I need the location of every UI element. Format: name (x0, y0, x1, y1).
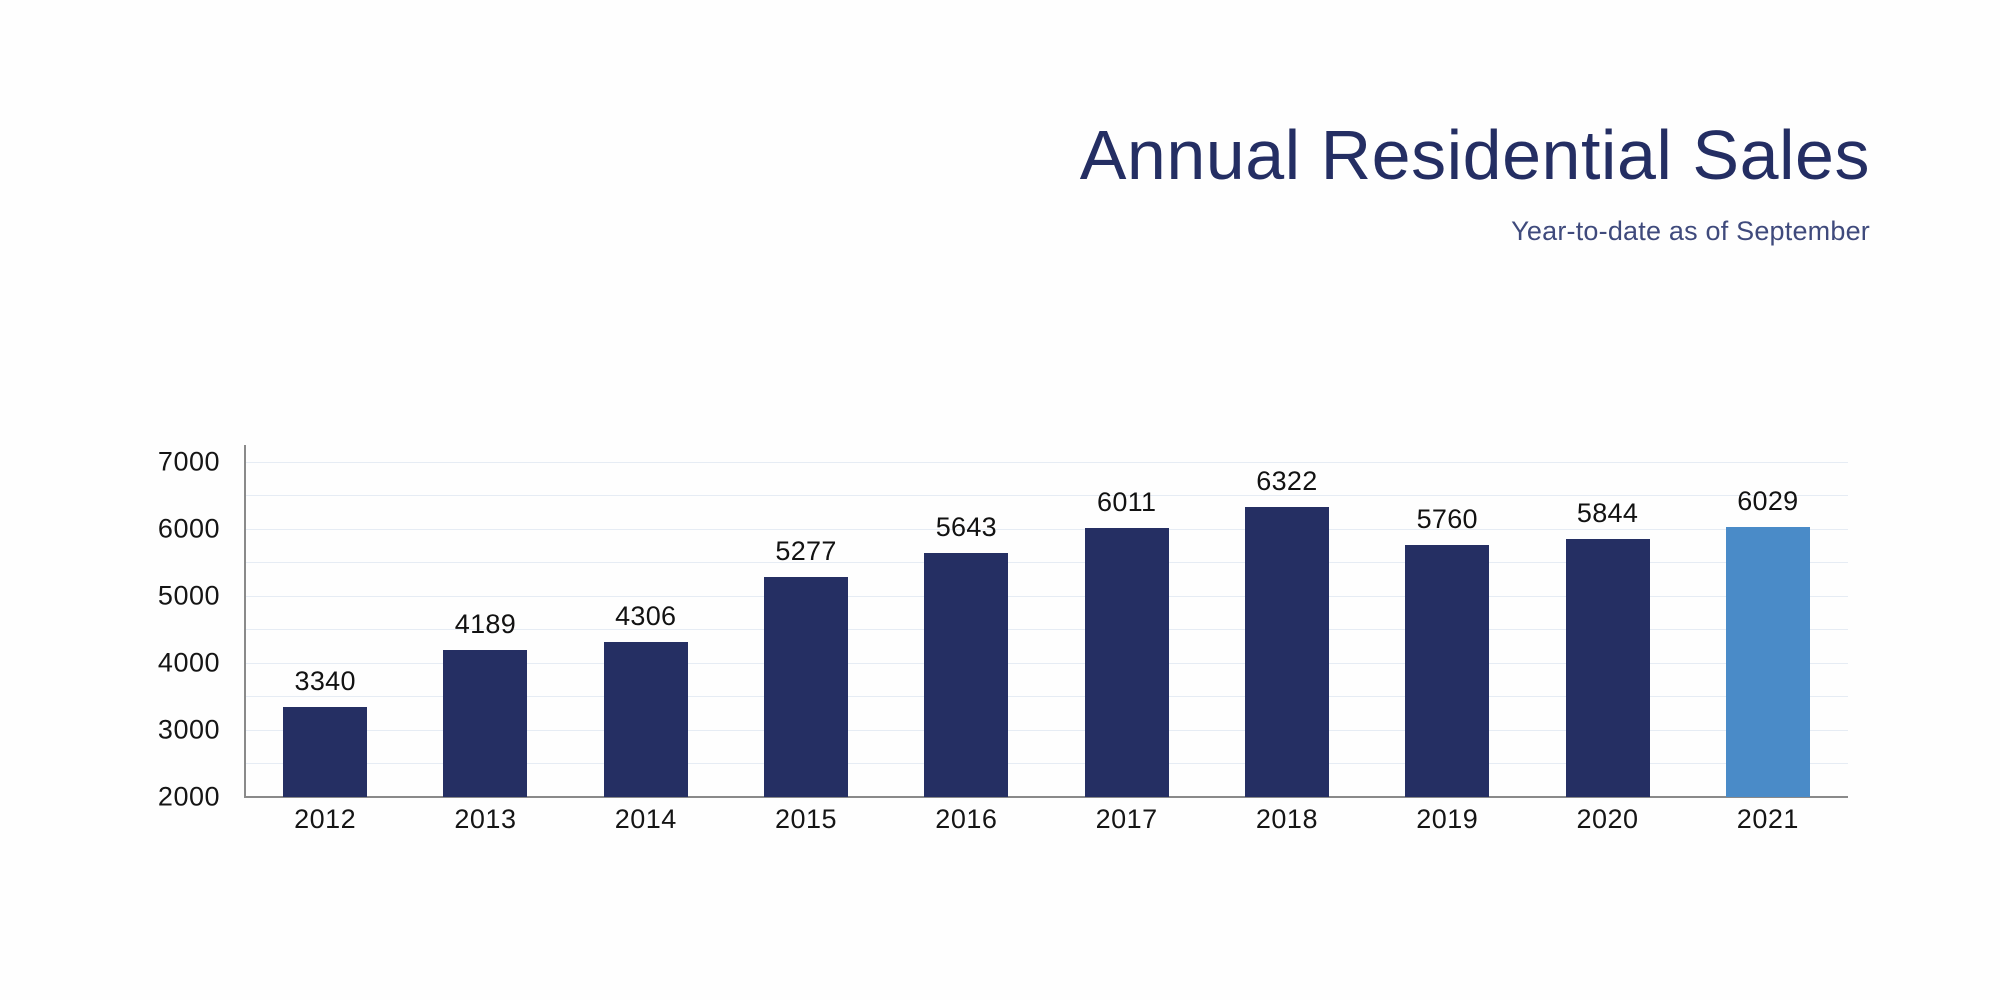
bar-slot: 3340 (245, 445, 405, 797)
bar-2021[interactable] (1726, 527, 1810, 797)
bar-2012[interactable] (283, 707, 367, 797)
bar-chart: 200030004000500060007000 334041894306527… (0, 0, 2000, 1000)
x-axis-tick-label: 2019 (1416, 804, 1478, 835)
bar-slot: 4306 (566, 445, 726, 797)
bar-value-label: 4306 (615, 601, 676, 632)
y-axis-tick-label: 6000 (60, 513, 220, 544)
bar-value-label: 5643 (936, 512, 997, 543)
bar-2016[interactable] (924, 553, 1008, 797)
bar-slot: 6322 (1207, 445, 1367, 797)
y-axis-tick-label: 4000 (60, 647, 220, 678)
bar-2015[interactable] (764, 577, 848, 797)
bar-slot: 5760 (1367, 445, 1527, 797)
bar-slot: 6011 (1047, 445, 1207, 797)
bar-value-label: 5844 (1577, 498, 1638, 529)
bar-value-label: 5760 (1417, 504, 1478, 535)
bar-2020[interactable] (1566, 539, 1650, 797)
y-axis-tick-label: 5000 (60, 580, 220, 611)
bar-2018[interactable] (1245, 507, 1329, 797)
y-axis-tick-label: 3000 (60, 714, 220, 745)
x-axis-tick-label: 2012 (294, 804, 356, 835)
bar-value-label: 5277 (775, 536, 836, 567)
x-axis-tick-label: 2015 (775, 804, 837, 835)
bar-slot: 5844 (1527, 445, 1687, 797)
bar-value-label: 6029 (1737, 486, 1798, 517)
bar-2017[interactable] (1085, 528, 1169, 797)
x-axis-tick-label: 2014 (615, 804, 677, 835)
y-axis-tick-label: 2000 (60, 782, 220, 813)
bar-slot: 5643 (886, 445, 1046, 797)
bar-value-label: 4189 (455, 609, 516, 640)
x-axis-tick-label: 2020 (1577, 804, 1639, 835)
x-axis-tick-label: 2018 (1256, 804, 1318, 835)
bar-slot: 6029 (1688, 445, 1848, 797)
y-axis-tick-label: 7000 (60, 446, 220, 477)
bar-value-label: 3340 (295, 666, 356, 697)
x-axis-tick-label: 2013 (454, 804, 516, 835)
slide-canvas: Annual Residential Sales Year-to-date as… (0, 0, 2000, 1000)
bar-2014[interactable] (604, 642, 688, 797)
bar-value-label: 6011 (1097, 487, 1156, 518)
x-axis-tick-label: 2021 (1737, 804, 1799, 835)
bar-value-label: 6322 (1256, 466, 1317, 497)
x-axis-tick-label: 2017 (1096, 804, 1158, 835)
bar-2019[interactable] (1405, 545, 1489, 797)
bar-slot: 4189 (405, 445, 565, 797)
bar-slot: 5277 (726, 445, 886, 797)
bar-2013[interactable] (443, 650, 527, 797)
x-axis-tick-label: 2016 (935, 804, 997, 835)
